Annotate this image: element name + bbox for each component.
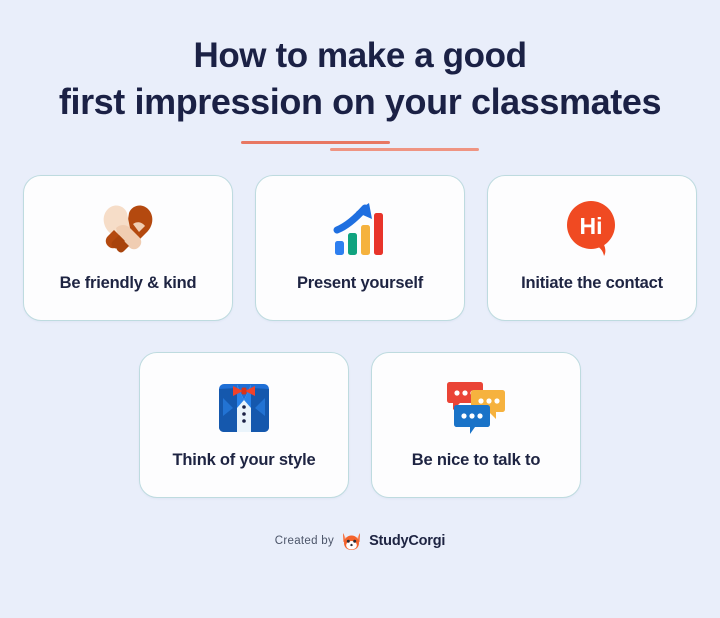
tip-card-initiate-the-contact[interactable]: Hi Initiate the contact	[487, 175, 697, 321]
tip-card-label: Think of your style	[173, 451, 316, 470]
title-underline-decoration	[0, 135, 720, 161]
hi-bubble-text: Hi	[580, 213, 603, 239]
tip-card-be-nice-to-talk-to[interactable]: Be nice to talk to	[371, 352, 581, 498]
infographic-page: How to make a good first impression on y…	[0, 0, 720, 618]
tip-card-be-friendly-and-kind[interactable]: Be friendly & kind	[23, 175, 233, 321]
tuxedo-suit-icon	[205, 372, 283, 442]
footer-brand-name: StudyCorgi	[369, 533, 445, 549]
underline-stroke-upper	[241, 141, 390, 144]
card-row-bottom: Think of your style	[0, 352, 720, 498]
underline-stroke-lower	[330, 148, 479, 151]
page-title-line-2: first impression on your classmates	[24, 79, 696, 125]
page-title-line-1: How to make a good	[24, 34, 696, 79]
studycorgi-corgi-face-logo	[341, 532, 362, 551]
footer-created-by-text: Created by	[275, 535, 334, 547]
growth-bar-chart-icon	[321, 195, 399, 265]
hi-speech-bubble-icon: Hi	[553, 195, 631, 265]
page-title: How to make a good first impression on y…	[0, 34, 720, 125]
handshake-heart-icon	[89, 195, 167, 265]
tip-card-think-of-your-style[interactable]: Think of your style	[139, 352, 349, 498]
tip-card-label: Present yourself	[297, 274, 423, 293]
tip-card-present-yourself[interactable]: Present yourself	[255, 175, 465, 321]
tip-card-label: Be nice to talk to	[412, 451, 540, 470]
footer-attribution: Created by StudyCorgi	[0, 532, 720, 551]
title-block: How to make a good first impression on y…	[0, 0, 720, 125]
tip-card-label: Initiate the contact	[521, 274, 663, 293]
chat-bubbles-icon	[437, 372, 515, 442]
tip-card-label: Be friendly & kind	[60, 274, 197, 293]
card-row-top: Be friendly & kind Present yourself	[0, 175, 720, 321]
